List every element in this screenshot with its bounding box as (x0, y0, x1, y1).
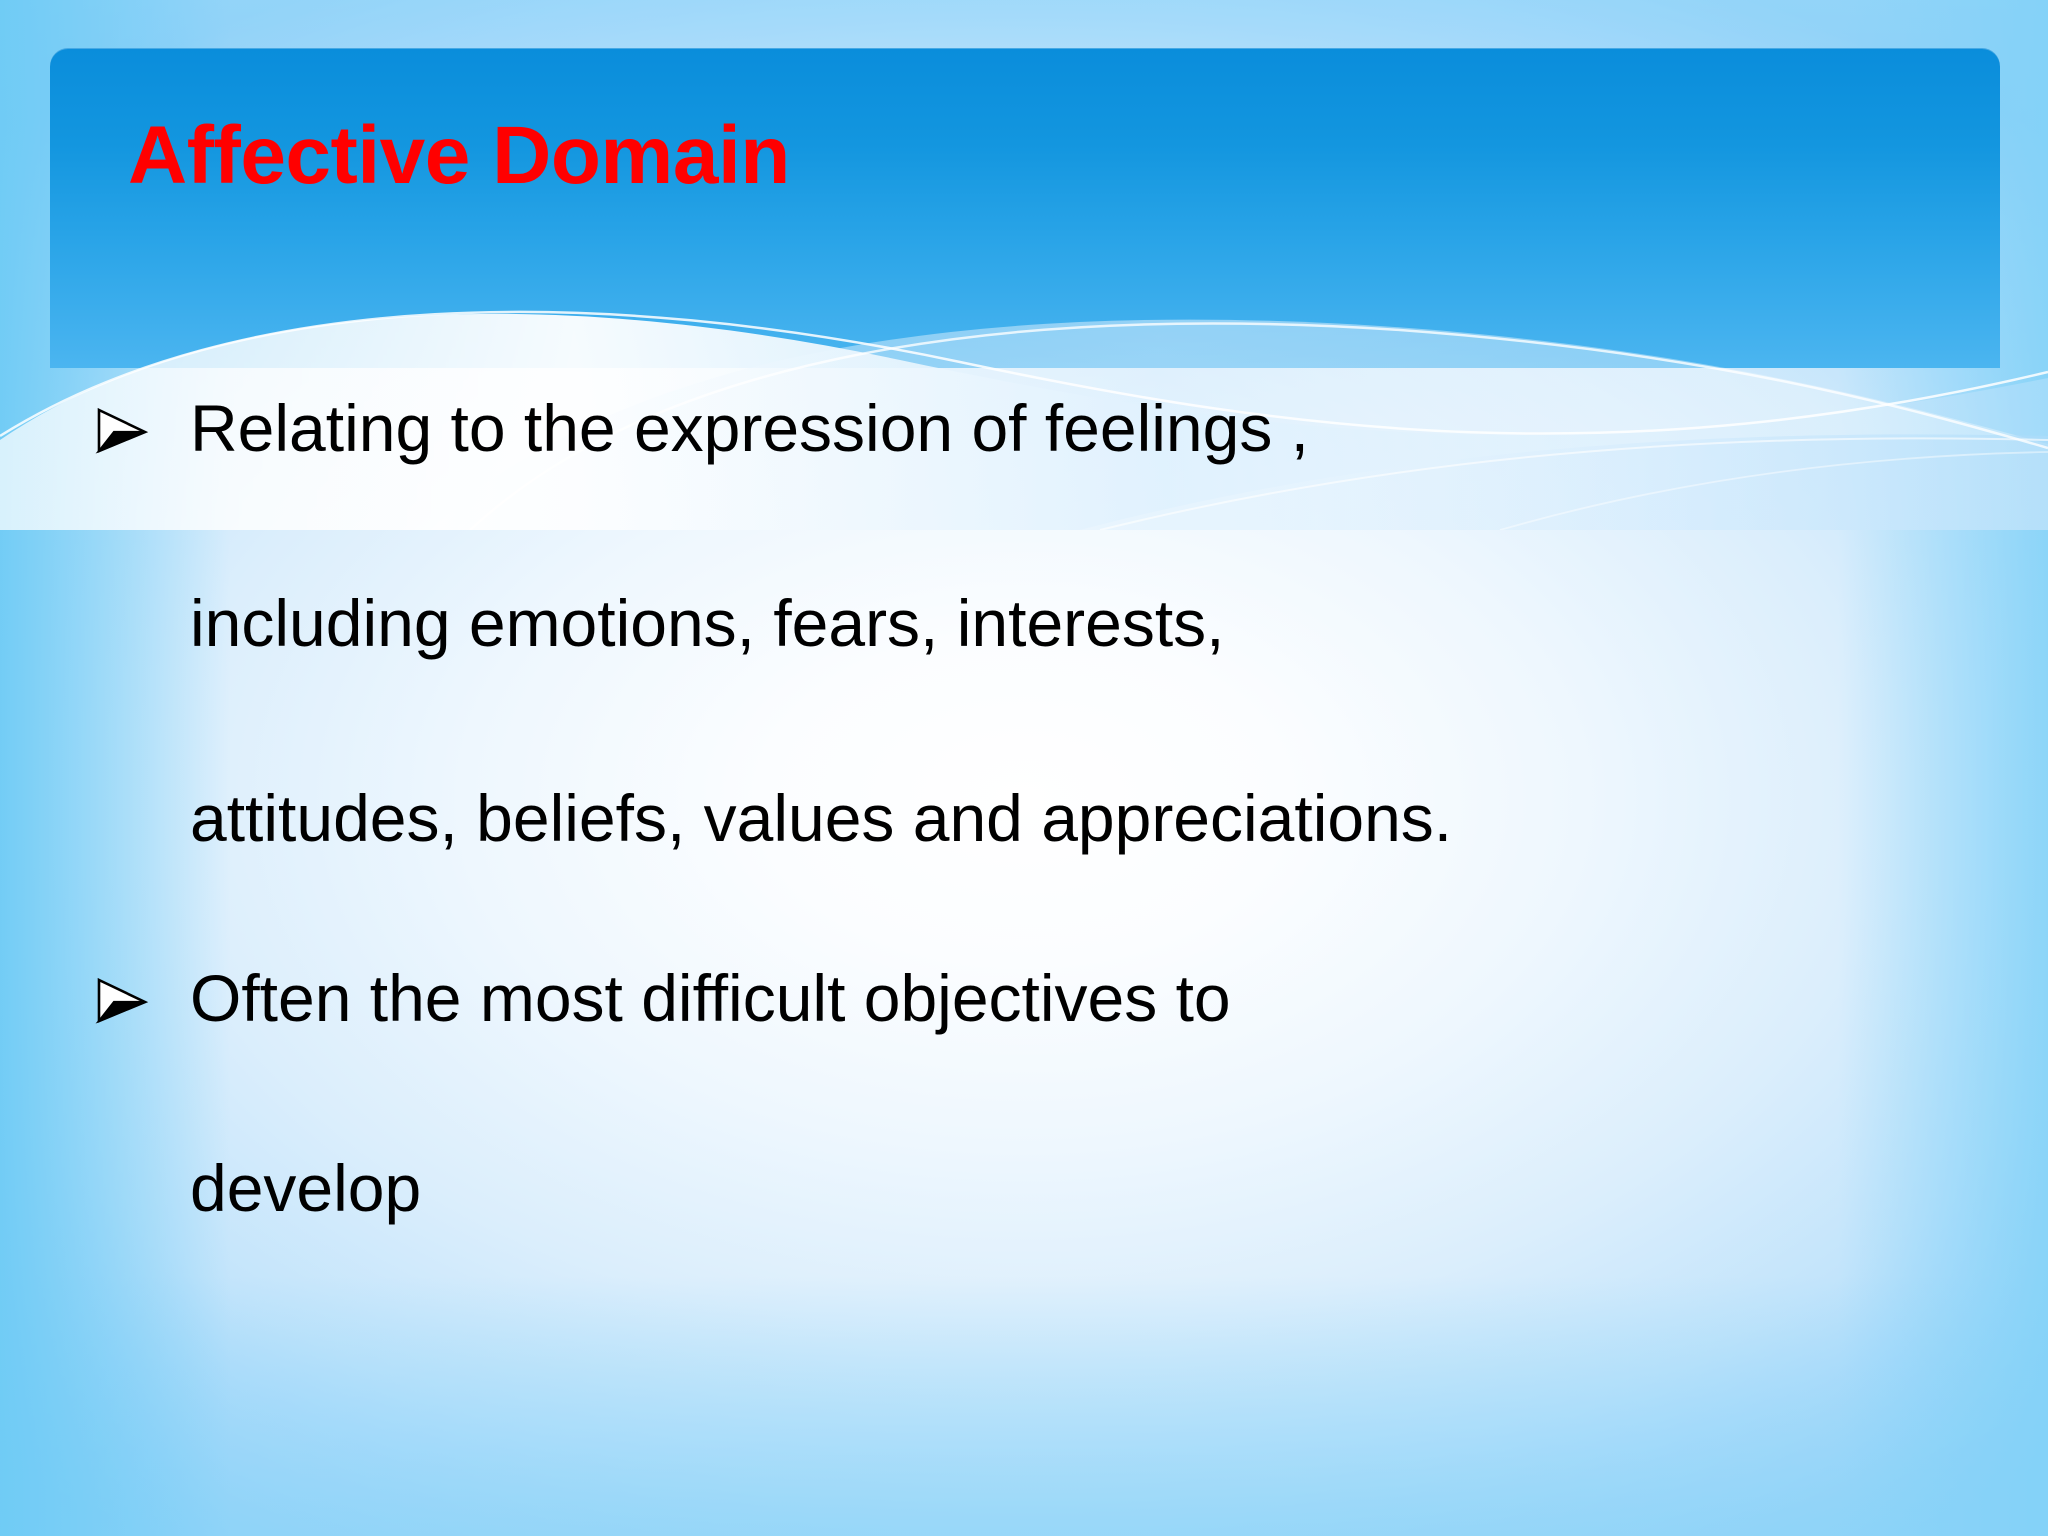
list-item-label: develop (190, 1155, 421, 1221)
list-item-label: Relating to the expression of feelings , (190, 395, 1309, 461)
presentation-slide: Affective Domain Relating to the express… (0, 0, 2048, 1536)
list-item-continuation: attitudes, beliefs, values and appreciat… (90, 785, 1452, 851)
arrow-bullet-icon (90, 969, 190, 1031)
arrow-bullet-icon (90, 399, 190, 461)
list-item-label: Often the most difficult objectives to (190, 965, 1231, 1031)
page-title: Affective Domain (128, 115, 790, 197)
slide-title-banner (50, 48, 2000, 368)
list-item-continuation: including emotions, fears, interests, (90, 590, 1225, 656)
list-item: Relating to the expression of feelings , (90, 395, 1309, 461)
list-item-label: attitudes, beliefs, values and appreciat… (190, 785, 1452, 851)
list-item-label: including emotions, fears, interests, (190, 590, 1225, 656)
list-item-continuation: develop (90, 1155, 421, 1221)
list-item: Often the most difficult objectives to (90, 965, 1231, 1031)
